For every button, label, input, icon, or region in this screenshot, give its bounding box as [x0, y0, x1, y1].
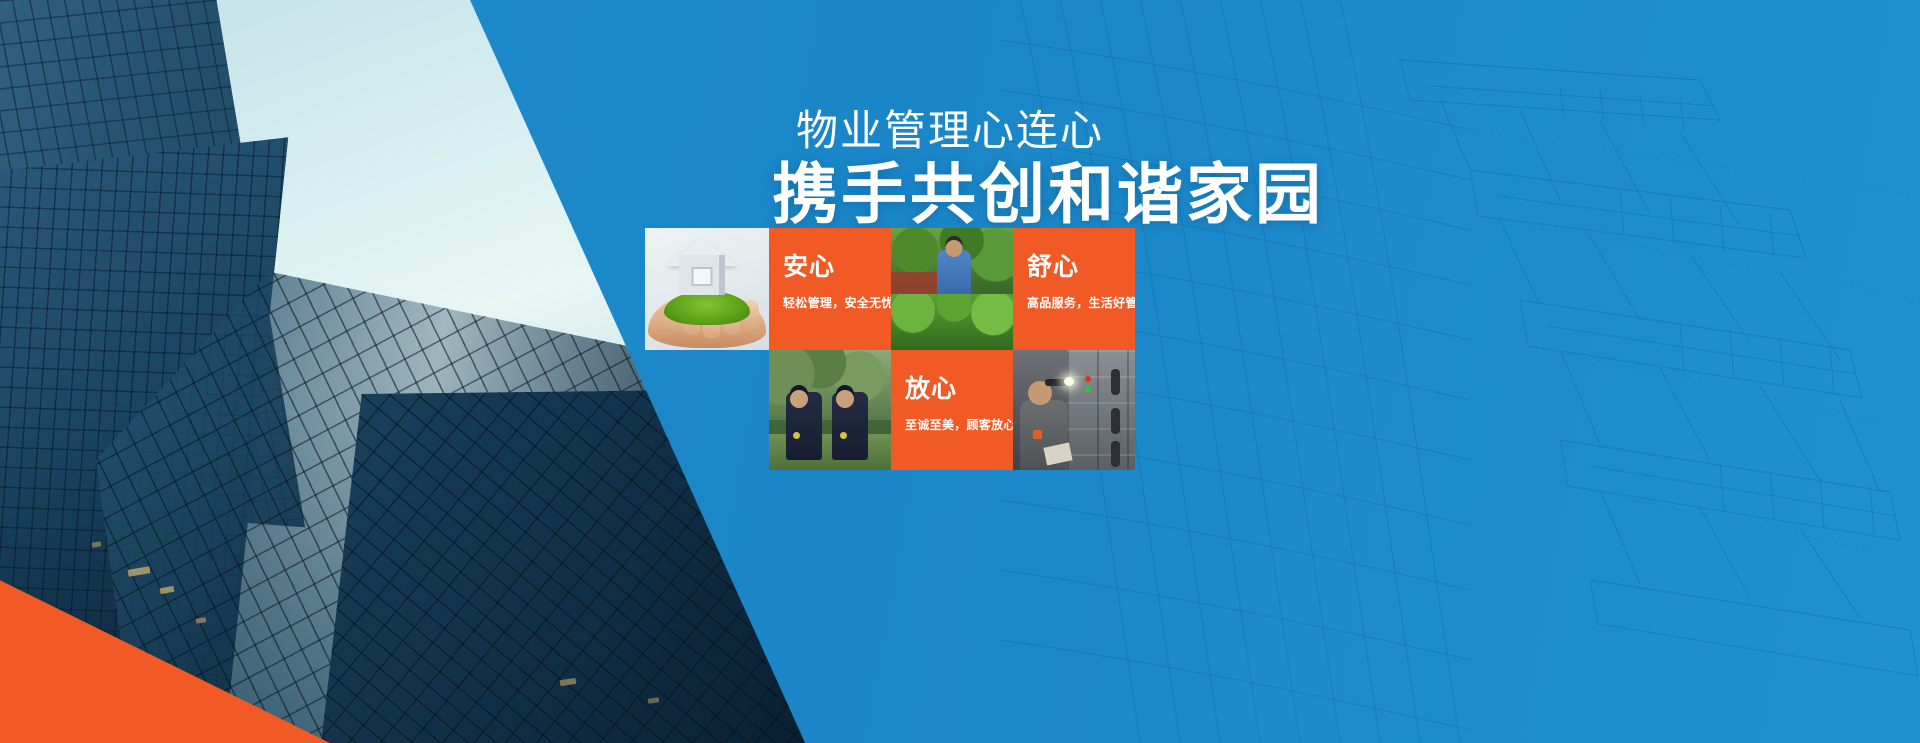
tile-text-block: 安心 轻松管理，安全无忧 — [783, 254, 883, 310]
banner-title: 携手共创和谐家园 — [772, 159, 1432, 230]
guard-badge-shape — [840, 432, 847, 439]
panel-handle-shape — [1111, 441, 1120, 467]
worker-head-shape — [946, 240, 963, 257]
hands-holding-green-house-icon — [645, 228, 769, 350]
gardener-trimming-hedge-icon — [891, 228, 1013, 350]
switchgear-panel-shape — [1067, 350, 1135, 470]
electrician-at-switchgear-icon — [1013, 350, 1135, 470]
tile-photo-electrician — [1013, 350, 1135, 470]
security-guards-patrol-icon — [769, 350, 891, 470]
tile-photo-guards — [769, 350, 891, 470]
uniform-patch-shape — [1033, 430, 1042, 439]
tile-feature-fangxin[interactable]: 放心 至诚至美，顾客放心 — [891, 350, 1013, 470]
tile-photo-house — [645, 228, 769, 350]
tile-description: 轻松管理，安全无忧 — [783, 296, 883, 310]
guard-head-shape — [790, 390, 808, 408]
guard-head-shape — [836, 390, 854, 408]
headline-block: 物业管理心连心 携手共创和谐家园 — [772, 108, 1432, 231]
tile-title: 舒心 — [1027, 254, 1127, 282]
hedge-shape — [891, 294, 1013, 350]
tile-feature-anxin[interactable]: 安心 轻松管理，安全无忧 — [769, 228, 891, 350]
grass-mound — [664, 291, 750, 325]
house-window-shape — [692, 267, 713, 286]
panel-handle-shape — [1111, 408, 1120, 434]
tile-text-block: 放心 至诚至美，顾客放心 — [905, 376, 1005, 432]
panel-handle-shape — [1111, 369, 1120, 395]
banner-subtitle: 物业管理心连心 — [796, 108, 1432, 153]
tile-description: 至诚至美，顾客放心 — [905, 418, 1005, 432]
tile-title: 放心 — [905, 376, 1005, 404]
tile-description: 高品服务，生活好管家 — [1027, 296, 1127, 310]
tile-photo-gardener — [891, 228, 1013, 350]
tile-feature-shuxin[interactable]: 舒心 高品服务，生活好管家 — [1013, 228, 1135, 350]
tile-title: 安心 — [783, 254, 883, 282]
feature-tile-grid: 安心 轻松管理，安全无忧 舒心 高品服务，生活好管家 — [645, 228, 1253, 470]
promo-banner: 物业管理心连心 携手共创和谐家园 安心 轻松管理，安全无忧 — [0, 0, 1920, 743]
tile-text-block: 舒心 高品服务，生活好管家 — [1027, 254, 1127, 310]
